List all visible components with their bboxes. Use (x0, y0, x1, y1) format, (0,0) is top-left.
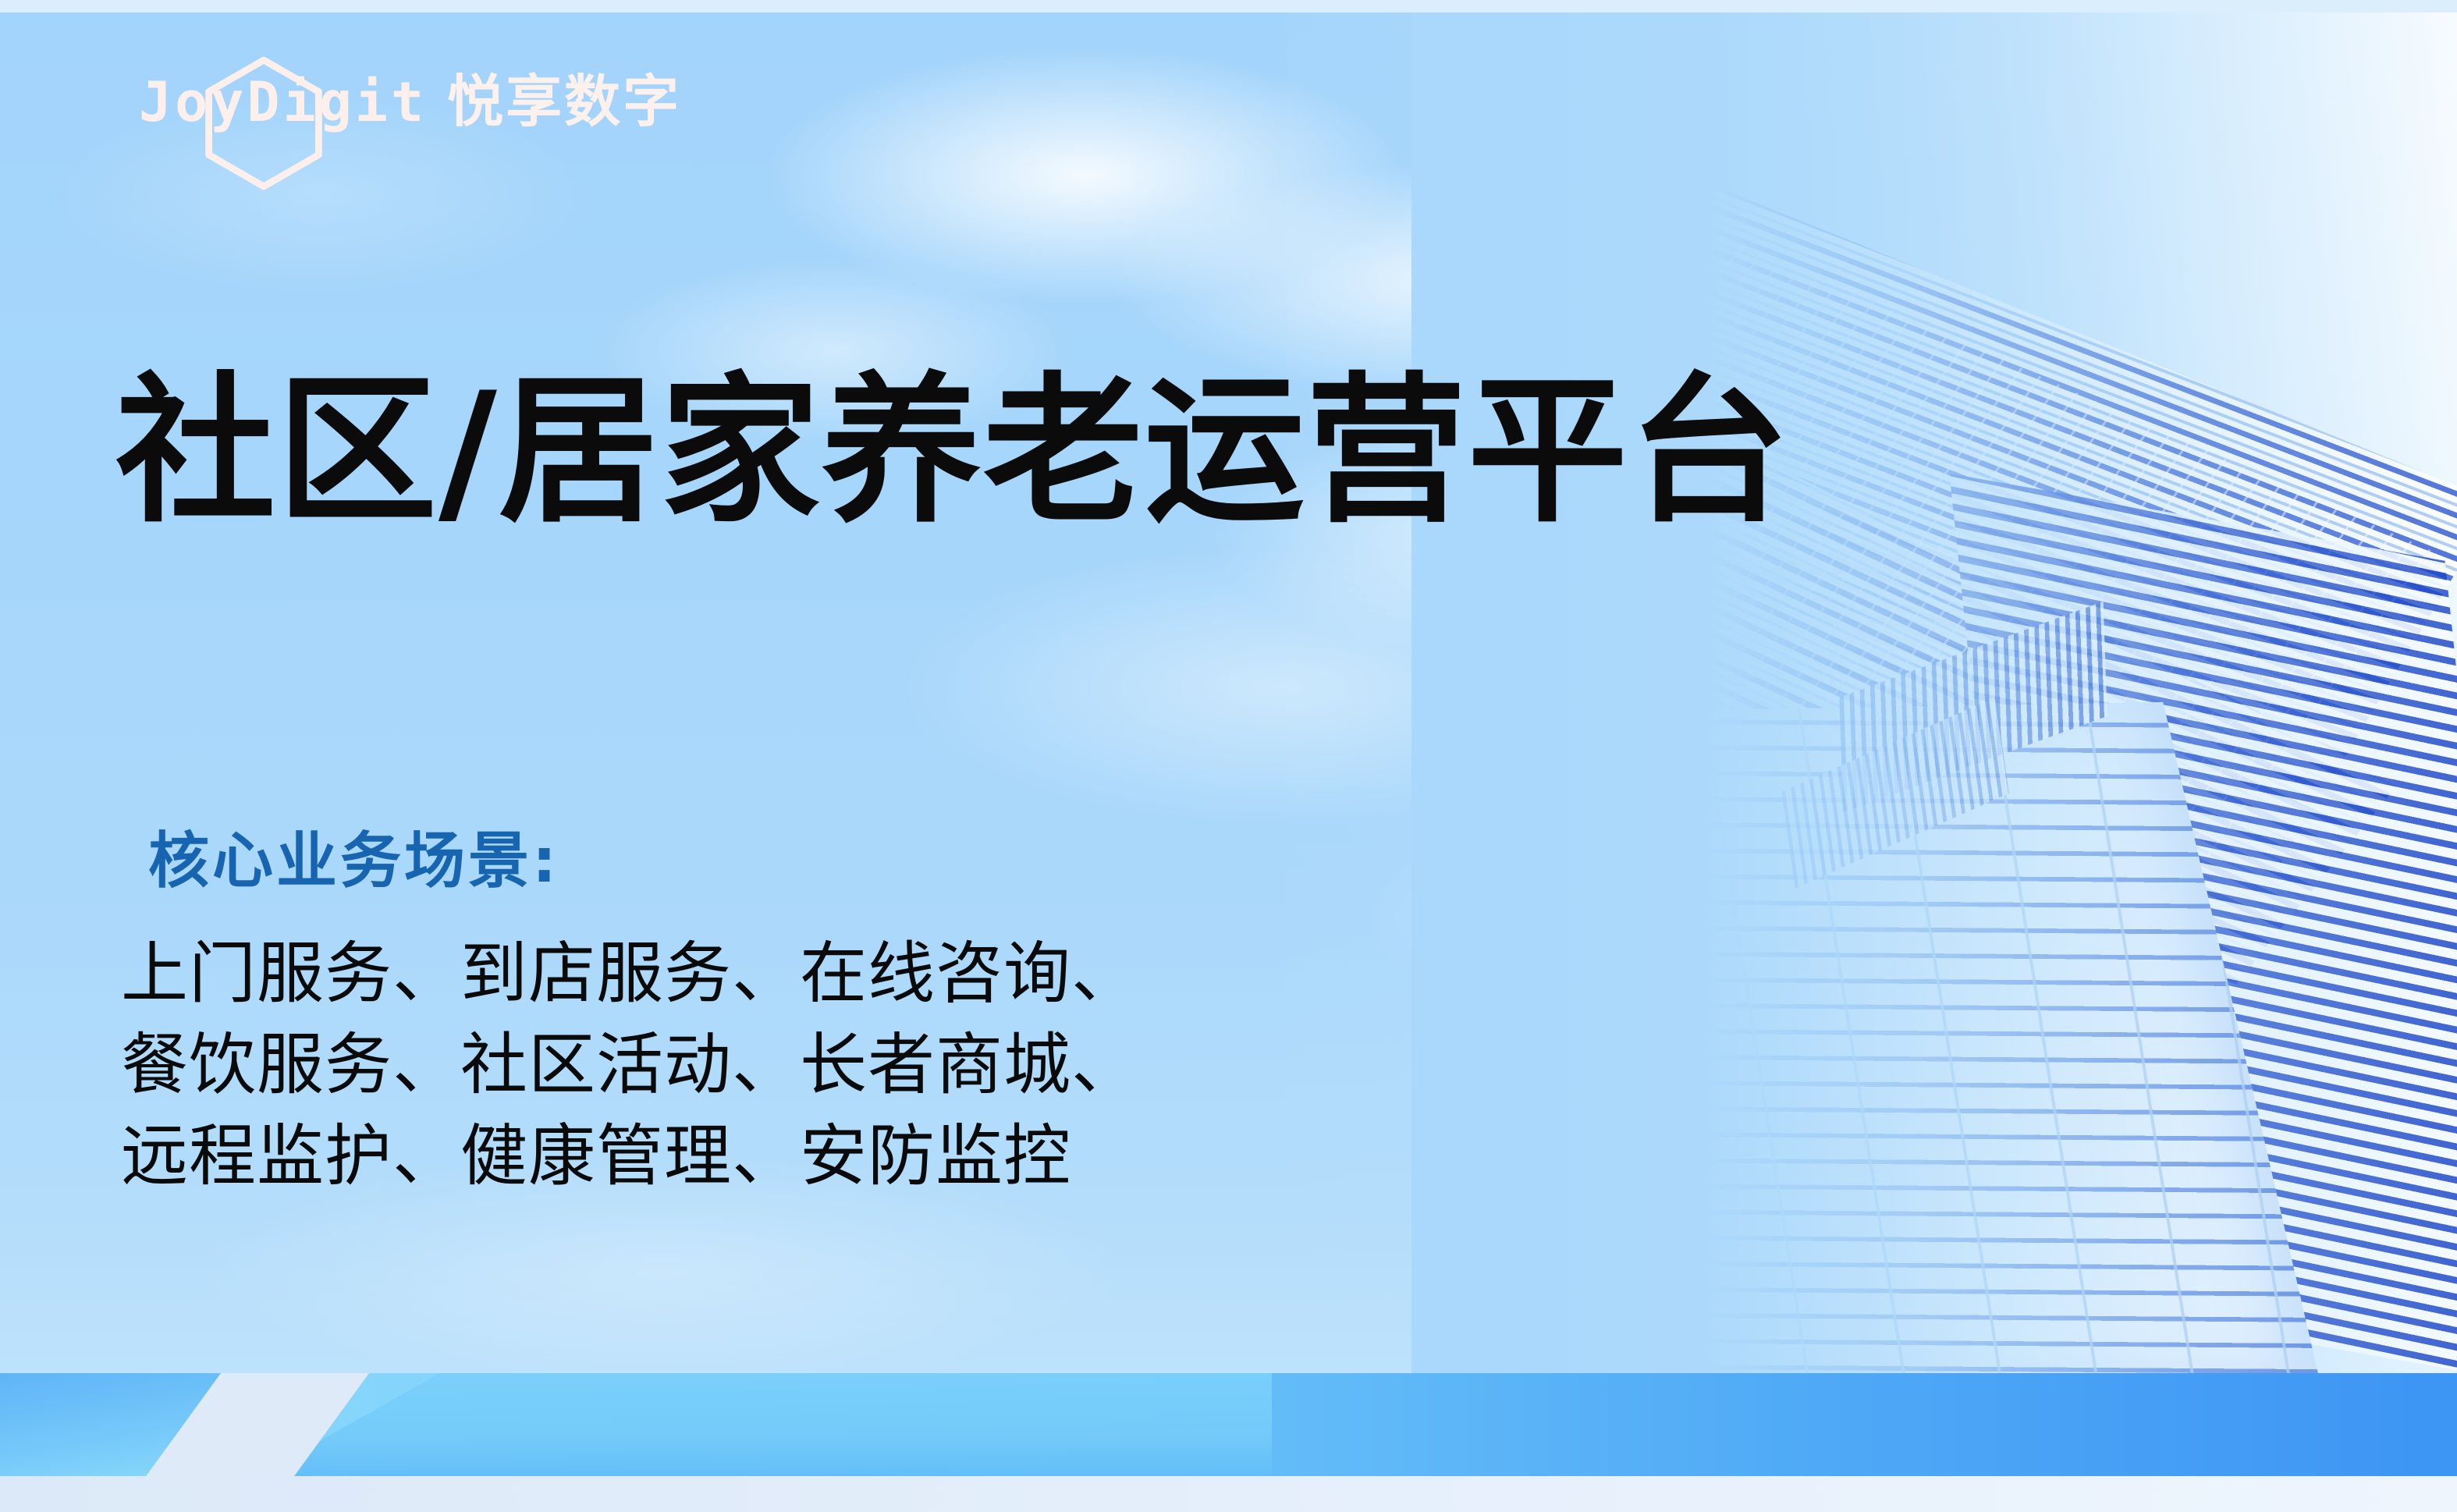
bottom-decorative-band (0, 1373, 2457, 1512)
band-baseline-strip (0, 1476, 2457, 1512)
page-title: 社区/居家养老运营平台 (115, 364, 1791, 541)
scene-line: 餐饮服务、社区活动、长者商城、 (121, 1020, 1139, 1111)
core-business-scenes-list: 上门服务、到店服务、在线咨询、 餐饮服务、社区活动、长者商城、 远程监护、健康管… (121, 928, 1139, 1202)
scene-line: 上门服务、到店服务、在线咨询、 (121, 928, 1139, 1020)
logo-latin-text: JoyDigit (139, 75, 427, 130)
section-heading: 核心业务场景: (148, 831, 559, 892)
logo-wordmark: JoyDigit 悦享数字 (139, 73, 681, 130)
brand-logo[interactable]: JoyDigit 悦享数字 (139, 59, 685, 176)
logo-chinese-text: 悦享数字 (447, 73, 681, 130)
top-edge-strip (0, 0, 2457, 12)
slide-canvas: JoyDigit 悦享数字 社区/居家养老运营平台 核心业务场景: 上门服务、到… (0, 0, 2457, 1512)
sky-light-wash (1287, 12, 2457, 1378)
scene-line: 远程监护、健康管理、安防监控 (121, 1111, 1139, 1202)
